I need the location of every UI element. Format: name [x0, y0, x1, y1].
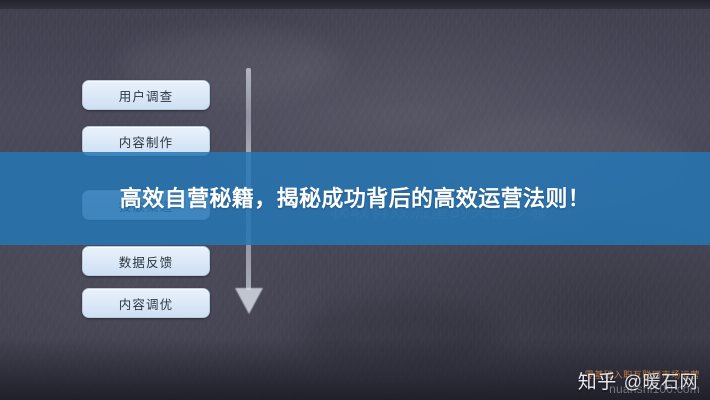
title-banner: 高效自营秘籍，揭秘成功背后的高效运营法则！ — [0, 152, 710, 245]
flow-arrow-head-icon — [235, 288, 263, 314]
flowchart-node: 用户调查 — [82, 80, 210, 110]
zhihu-logo-text: 知乎 — [578, 367, 617, 394]
banner-title-text: 高效自营秘籍，揭秘成功背后的高效运营法则！ — [45, 183, 665, 215]
zhihu-account-name: @暖石网 — [624, 368, 698, 394]
flowchart-node-label: 内容调优 — [119, 294, 173, 313]
flowchart-node: 数据反馈 — [82, 246, 210, 276]
cover-image: 获取有效流量的关键步骤 用户调查 内容制作 投放渠道 数据反馈 内容调优 零基础… — [0, 0, 710, 400]
flowchart-node-label: 用户调查 — [119, 86, 173, 105]
zhihu-attribution: 知乎 @暖石网 — [578, 367, 698, 394]
flowchart-node-label: 内容制作 — [119, 132, 173, 151]
flowchart-node: 内容调优 — [82, 288, 210, 318]
flowchart-node-label: 数据反馈 — [119, 252, 173, 271]
